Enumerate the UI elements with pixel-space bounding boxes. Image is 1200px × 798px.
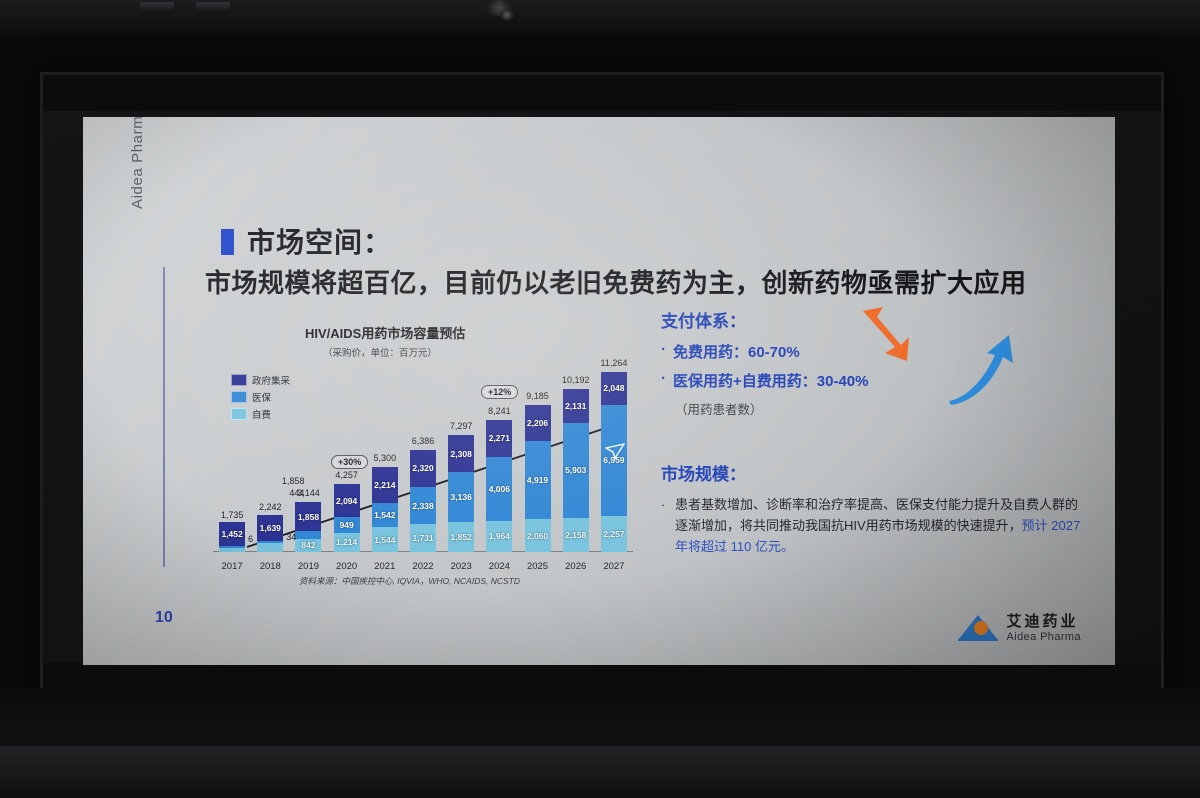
chart-source-note: 资料来源：中国疾控中心, IQVIA，WHO, NCAIDS, NCSTD [299,575,520,587]
bar-column-2027: 2,0486,9592,257 [601,372,627,552]
bar-column-2022: 2,3202,3381,731 [410,450,436,552]
x-axis-label-2023: 2023 [451,561,472,572]
bar-value-label: 4,006 [489,484,510,494]
bar-column-2024: 2,2714,0061,964 [486,420,512,552]
payment-item-free: · 免费用药：60-70% [661,341,1081,362]
bar-segment-医保: 5,903 [563,423,589,517]
bar-segment-医保: 2,338 [410,487,436,524]
bar-segment-自费: 1,964 [486,521,512,552]
bar-segment-医保: 4,006 [486,457,512,521]
x-axis-label-2019: 2019 [298,561,319,572]
bar-total-label: 7,297 [450,421,473,431]
bar-value-label: 1,544 [374,535,395,545]
bar-column-2021: 2,2141,5421,544 [372,467,398,552]
payment-item-free-label: 免费用药：60-70% [673,341,800,362]
bar-value-label: 2,214 [374,480,395,490]
bullet-dot: · [661,370,673,391]
page-title: 市场空间： [247,221,392,261]
chart-plot-area: 1,73520171,4522,24220181,6393,14420191,8… [213,363,633,578]
logo-text-en: Aidea Pharma [1006,631,1081,643]
bar-value-label: 3,136 [451,492,472,502]
x-axis-label-2024: 2024 [489,561,510,572]
heading-bullet-mark [221,229,234,255]
bar-total-label: 1,735 [221,510,244,520]
x-axis-label-2018: 2018 [260,561,281,572]
bar-total-label: 2,242 [259,502,282,512]
ceiling [0,0,1200,36]
growth-callout: +12% [481,385,518,399]
bar-value-label: 2,308 [451,449,472,459]
bar-value-label: 1,964 [489,531,510,541]
x-axis-label-2025: 2025 [527,561,548,572]
bar-value-label: 1,639 [260,523,281,533]
page-subtitle: 市场规模将超百亿，目前仍以老旧免费药为主，创新药物亟需扩大应用 [205,263,1027,300]
screen-top-border [43,75,1161,111]
chart-subtitle: （采购价，单位：百万元） [323,345,437,359]
bar-segment-政府集采: 2,214 [372,467,398,502]
bar-total-label: 11,264 [600,358,627,368]
market-size-chart: HIV/AIDS用药市场容量预估 （采购价，单位：百万元） 政府集采 医保 自费 [205,323,635,613]
bar-value-label: 2,094 [336,496,357,506]
growth-callout: +30% [331,455,368,469]
bar-segment-政府集采: 1,452 [219,522,245,545]
bar-segment-政府集采: 2,131 [563,389,589,423]
bullet-dot: · [661,494,675,557]
bar-segment-医保: 949 [334,517,360,532]
bar-value-label: 1,852 [451,532,472,542]
bar-value-label: 1,731 [412,533,433,543]
bar-total-label: 10,192 [562,375,590,385]
bar-segment-政府集采: 2,308 [448,435,474,472]
bar-value-label: 842 [301,540,315,550]
x-axis-label-2026: 2026 [565,561,586,572]
bar-segment-政府集采: 2,271 [486,420,512,456]
bar-column-2020: 2,0949491,214 [334,484,360,552]
bar-segment-自费: 842 [295,539,321,552]
bar-value-label: 1,214 [336,537,357,547]
bar-outside-label: 1,858 [282,476,305,486]
bar-segment-政府集采: 2,048 [601,372,627,405]
bar-segment-政府集采: 2,206 [525,405,551,440]
ceiling-light [500,10,514,20]
bar-column-2026: 2,1315,9032,158 [563,389,589,552]
bar-segment-自费: 1,852 [448,522,474,552]
bar-segment-自费 [257,543,283,552]
bar-value-label: 2,131 [565,401,586,411]
logo-mark-icon [954,611,998,643]
logo-text-cn: 艾迪药业 [1006,610,1081,631]
bar-segment-自费: 1,731 [410,524,436,552]
bar-segment-自费: 2,158 [563,518,589,552]
bar-value-label: 2,257 [603,529,624,539]
bar-value-label: 2,320 [412,463,433,473]
chart-title: HIV/AIDS用药市场容量预估 [305,323,465,342]
company-logo: 艾迪药业 Aidea Pharma [954,610,1081,643]
slide-canvas: Aidea Pharma | 2026 10 市场空间： 市场规模将超百亿，目前… [83,117,1115,665]
x-axis-label-2021: 2021 [374,561,395,572]
page-number: 10 [155,609,173,627]
bar-value-label: 2,158 [565,530,586,540]
bar-value-label: 2,271 [489,433,510,443]
bar-value-label: 949 [340,520,354,530]
payment-item-paid-label: 医保用药+自费用药：30-40% [673,370,868,391]
projection-screen: Aidea Pharma | 2026 10 市场空间： 市场规模将超百亿，目前… [40,72,1164,718]
bar-column-2017: 1,452 [219,522,245,552]
x-axis-label-2027: 2027 [603,561,624,572]
bar-total-label: 6,386 [412,436,435,446]
x-axis-label-2020: 2020 [336,561,357,572]
logo-text: 艾迪药业 Aidea Pharma [1006,610,1081,643]
market-size-block: 市场规模： · 患者基数增加、诊断率和治疗率提高、医保支付能力提升及自费人群的逐… [661,460,1081,557]
bullet-dot: · [661,341,673,362]
bar-column-2019: 1,858842 [295,502,321,552]
x-axis-label-2022: 2022 [412,561,433,572]
market-size-text-plain: 患者基数增加、诊断率和治疗率提高、医保支付能力提升及自费人群的逐渐增加，将共同推… [675,497,1078,533]
bar-value-label: 4,919 [527,475,548,485]
bar-outside-label: 6 [248,534,253,544]
bar-segment-自费: 2,257 [601,516,627,552]
bar-segment-医保: 4,919 [525,441,551,520]
bar-total-label: 9,185 [526,391,549,401]
vertical-brand-text: Aidea Pharma | [129,117,146,209]
bar-segment-政府集采: 2,320 [410,450,436,487]
bar-value-label: 1,542 [374,510,395,520]
bar-segment-政府集采: 2,094 [334,484,360,517]
bar-segment-政府集采: 1,858 [295,502,321,532]
market-size-heading: 市场规模： [661,460,1081,485]
bar-outside-label: 34 [286,532,296,542]
bar-column-2025: 2,2064,9192,060 [525,405,551,552]
vertical-brand-label: Aidea Pharma | 2026 [127,117,147,209]
ceiling-vent [140,2,174,11]
bar-segment-自费: 2,060 [525,519,551,552]
bar-value-label: 2,206 [527,418,548,428]
bar-value-label: 1,452 [221,529,242,539]
bar-value-label: 2,060 [527,531,548,541]
bar-value-label: 2,338 [412,501,433,511]
foreground-desk [0,746,1200,798]
bar-segment-医保: 1,542 [372,503,398,528]
ceiling-vent [196,2,230,11]
bar-column-2023: 2,3083,1361,852 [448,435,474,552]
bar-segment-医保: 6,959 [601,405,627,516]
bar-total-label: 4,257 [335,470,358,480]
market-size-text: 患者基数增加、诊断率和治疗率提高、医保支付能力提升及自费人群的逐渐增加，将共同推… [675,494,1081,557]
payment-item-paid: · 医保用药+自费用药：30-40% [661,370,1081,391]
bar-value-label: 2,048 [603,383,624,393]
left-accent-rule [163,267,165,567]
bar-value-label: 5,903 [565,465,586,475]
bar-segment-自费: 1,214 [334,533,360,552]
bar-total-label: 5,300 [374,453,397,463]
bar-segment-政府集采: 1,639 [257,515,283,541]
market-size-paragraph: · 患者基数增加、诊断率和治疗率提高、医保支付能力提升及自费人群的逐渐增加，将共… [661,494,1081,557]
bar-segment-医保 [295,531,321,538]
bar-value-label: 1,858 [298,512,319,522]
bar-segment-自费: 1,544 [372,527,398,552]
right-content-column: 支付体系： · 免费用药：60-70% · 医保用药+自费用药：30-40% （… [661,307,1081,557]
x-axis-label-2017: 2017 [222,561,243,572]
bar-segment-自费 [219,548,245,552]
bar-outside-label: 444 [289,488,304,498]
payment-system-heading: 支付体系： [661,307,1081,332]
bar-total-label: 8,241 [488,406,511,416]
pointer-glyph-icon [605,442,625,460]
bar-column-2018: 1,639 [257,515,283,552]
payment-note: （用药患者数） [675,399,1081,418]
bar-segment-医保: 3,136 [448,472,474,522]
projected-slide-photo: Aidea Pharma | 2026 10 市场空间： 市场规模将超百亿，目前… [0,0,1200,798]
